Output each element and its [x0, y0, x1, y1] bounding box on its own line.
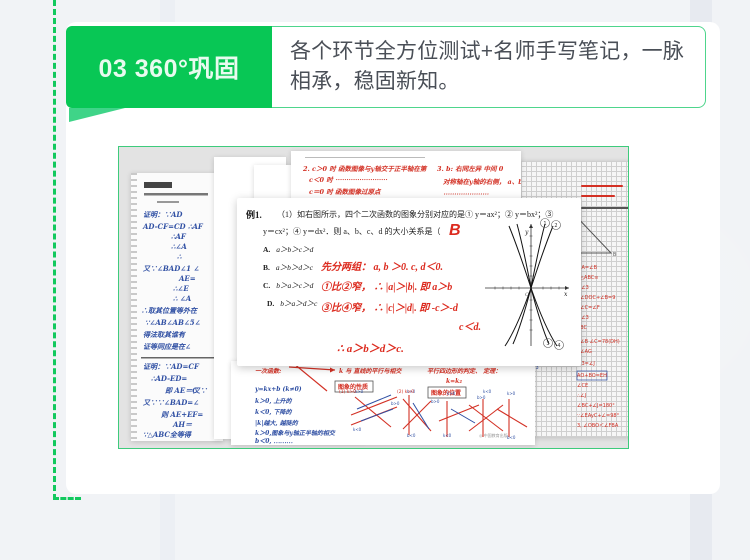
svg-text:c＜0 时 ⋯⋯⋯⋯⋯⋯⋯⋯: c＜0 时 ⋯⋯⋯⋯⋯⋯⋯⋯ [309, 176, 388, 184]
svg-text:k=k₂: k=k₂ [446, 378, 462, 385]
notes-sheet-left-lined: 证明：∵AD AD-CF=CD ∴AF ∴AF ∴∠A ∴ 又∵∠BAD∠1 ∠… [131, 173, 223, 441]
svg-text:k>0: k>0 [507, 391, 516, 396]
svg-text:b>0: b>0 [391, 401, 400, 406]
section-description-text: 各个环节全方位测试+名师手写笔记，一脉相承，稳固新知。 [272, 37, 705, 97]
svg-text:∴ ∠A: ∴ ∠A [173, 294, 192, 303]
svg-text:b>0: b>0 [431, 399, 440, 404]
svg-text:又∵: 又∵ [192, 386, 208, 395]
svg-text:◎ 中国教育出版: ◎ 中国教育出版 [479, 432, 508, 438]
svg-text:∵∠B ∠C=78(DH): ∵∠B ∠C=78(DH) [577, 339, 620, 345]
svg-text:k 与 直线的平行与相交: k 与 直线的平行与相交 [339, 367, 402, 375]
svg-text:∴: ∴ [177, 252, 182, 261]
svg-text:∠CE: ∠CE [577, 383, 588, 389]
svg-text:b>0: b>0 [477, 395, 486, 400]
svg-text:∵∠EAyC+∠=98°: ∵∠EAyC+∠=98° [577, 413, 620, 419]
svg-text:k>0: k>0 [447, 391, 456, 396]
handwriting-line-3: ③比④窄， ∴ |c|＞|d|. 即 -c＞-d [321, 299, 458, 314]
svg-text:y=kx+b (k≠0): y=kx+b (k≠0) [254, 386, 302, 393]
svg-text:得法取其谁有: 得法取其谁有 [143, 330, 187, 339]
svg-text:(1) k>0: (1) k>0 [339, 389, 356, 395]
svg-text:b<0: b<0 [507, 435, 516, 440]
svg-text:∴AD-ED=: ∴AD-ED= [151, 374, 187, 383]
svg-text:AD-CF=CD ∴AF: AD-CF=CD ∴AF [142, 222, 204, 231]
svg-text:∵∠AB∠AB∠5∠: ∵∠AB∠AB∠5∠ [145, 318, 201, 327]
svg-text:b＜0, ⋯⋯⋯: b＜0, ⋯⋯⋯ [255, 438, 293, 445]
section-description-box: 各个环节全方位测试+名师手写笔记，一脉相承，稳固新知。 [272, 26, 706, 108]
svg-text:2. c＞0 时 函数图像与y轴交于正半轴在第: 2. c＞0 时 函数图像与y轴交于正半轴在第 [302, 165, 428, 173]
section-badge-label: 03 360°巩固 [99, 49, 240, 85]
svg-text:一次函数:: 一次函数: [255, 367, 281, 375]
svg-text:k>0: k>0 [355, 389, 364, 394]
svg-text:1: 1 [543, 221, 546, 227]
svg-text:∴∠A: ∴∠A [171, 242, 187, 251]
svg-text:x: x [564, 291, 568, 298]
svg-text:∴∠E: ∴∠E [173, 284, 189, 293]
dashed-guide-horizontal [53, 497, 81, 500]
svg-text:证等同应是在∠: 证等同应是在∠ [143, 342, 191, 351]
svg-text:3: 3 [546, 341, 549, 347]
svg-text:k<0: k<0 [353, 427, 362, 432]
svg-text:∴∠J: ∴∠J [577, 393, 586, 399]
svg-text:则 AE+EF=: 则 AE+EF= [161, 410, 203, 419]
svg-text:y: y [524, 229, 529, 236]
svg-text:(2) k>0: (2) k>0 [397, 389, 414, 395]
option-b-value: a＞b＞d＞c [270, 263, 313, 272]
option-b: B.a＞b＞d＞c [263, 262, 313, 273]
svg-text:B: B [613, 252, 617, 258]
svg-text:c＝0 时 函数图像过原点: c＝0 时 函数图像过原点 [309, 188, 382, 196]
option-d-value: b＞a＞d＞c [274, 299, 317, 308]
example-problem-sheet: 例1. （1）如右图所示，四个二次函数的图象分别对应的是① y＝ax²；② y＝… [237, 198, 581, 366]
svg-text:证明：∵AD=CF: 证明：∵AD=CF [143, 362, 200, 371]
parabola-graph: y x O 1 2 3 4 [481, 216, 573, 352]
svg-text:⋯⋯⋯⋯⋯⋯⋯: ⋯⋯⋯⋯⋯⋯⋯ [443, 190, 489, 198]
svg-text:3, ∠OBO＜∠FBA: 3, ∠OBO＜∠FBA [577, 423, 619, 429]
notes-sheet-bottom-graph: 一次函数: k 与 直线的平行与相交 平行四边形的判定、 定理： k=k₂ y=… [231, 361, 535, 445]
svg-text:图象的位置: 图象的位置 [431, 389, 461, 397]
option-a: A.a＞b＞c＞d [263, 244, 313, 255]
svg-text:AH＝: AH＝ [172, 420, 193, 429]
question-number: 例1. [246, 208, 262, 221]
svg-text:k＜0, 下降的: k＜0, 下降的 [255, 408, 293, 416]
handwriting-line-2: ①比②窄， ∴ |a|＞|b|. 即 a＞b [321, 278, 452, 293]
dashed-guide-vertical [53, 0, 56, 500]
section-header: 03 360°巩固 各个环节全方位测试+名师手写笔记，一脉相承，稳固新知。 [66, 26, 706, 108]
svg-text:k<0: k<0 [483, 389, 492, 394]
left-sheet-writing: 证明：∵AD AD-CF=CD ∴AF ∴AF ∴∠A ∴ 又∵∠BAD∠1 ∠… [131, 173, 223, 441]
svg-text:k＞0,图象与y轴正半轴的相交: k＞0,图象与y轴正半轴的相交 [255, 429, 336, 437]
svg-text:又∵∵∠BAD=∠: 又∵∵∠BAD=∠ [142, 398, 199, 407]
option-d: D.b＞a＞d＞c [267, 298, 317, 309]
option-c-value: b＞a＞c＞d [270, 281, 313, 290]
svg-text:∵△ABC全等得: ∵△ABC全等得 [143, 430, 192, 439]
svg-text:k＞0, 上升的: k＞0, 上升的 [255, 397, 293, 405]
linear-function-notes: 一次函数: k 与 直线的平行与相交 平行四边形的判定、 定理： k=k₂ y=… [231, 361, 535, 445]
svg-text:又∵∠BAD∠1 ∠: 又∵∠BAD∠1 ∠ [142, 264, 199, 273]
option-b-key: B. [263, 263, 270, 272]
option-c: C.b＞a＞c＞d [263, 280, 313, 291]
handwriting-line-4: c＜d. [459, 318, 481, 333]
svg-text:对称轴在y轴的右侧， a、b 同号: 对称轴在y轴的右侧， a、b 同号 [443, 178, 521, 186]
svg-text:b<0: b<0 [407, 433, 416, 438]
section-badge: 03 360°巩固 [66, 26, 272, 108]
svg-text:∵∠DOC+∠B=9: ∵∠DOC+∠B=9 [577, 295, 615, 301]
handwritten-answer-letter: B [449, 222, 461, 240]
svg-text:∴取其位置等外在: ∴取其位置等外在 [141, 306, 198, 315]
svg-text:k<0: k<0 [443, 433, 452, 438]
svg-text:3. b: 右同左异 中间 0: 3. b: 右同左异 中间 0 [437, 165, 504, 173]
option-a-value: a＞b＞c＞d [270, 245, 313, 254]
svg-text:∴AF: ∴AF [171, 232, 187, 241]
question-line-2: y＝cx²；④ y＝dx²．则 a、b、c、d 的大小关系是（ [263, 226, 440, 237]
svg-text:AE=: AE= [178, 274, 196, 283]
svg-text:|k|越大, 越陡的: |k|越大, 越陡的 [255, 419, 299, 427]
svg-text:平行四边形的判定、 定理：: 平行四边形的判定、 定理： [427, 367, 501, 375]
handwriting-line-1: 先分两组： a, b ＞0. c, d＜0. [321, 258, 443, 273]
handwriting-line-5: ∴ a＞b＞d＞c. [337, 340, 404, 356]
svg-text:AO+BO=EH: AO+BO=EH [577, 373, 607, 379]
svg-text:证明：∵AD: 证明：∵AD [143, 210, 183, 219]
svg-text:4: 4 [557, 343, 560, 349]
badge-tail-shape [69, 108, 125, 122]
svg-text:2: 2 [554, 223, 557, 229]
svg-text:∠BC+∠J=180°: ∠BC+∠J=180° [577, 403, 615, 409]
